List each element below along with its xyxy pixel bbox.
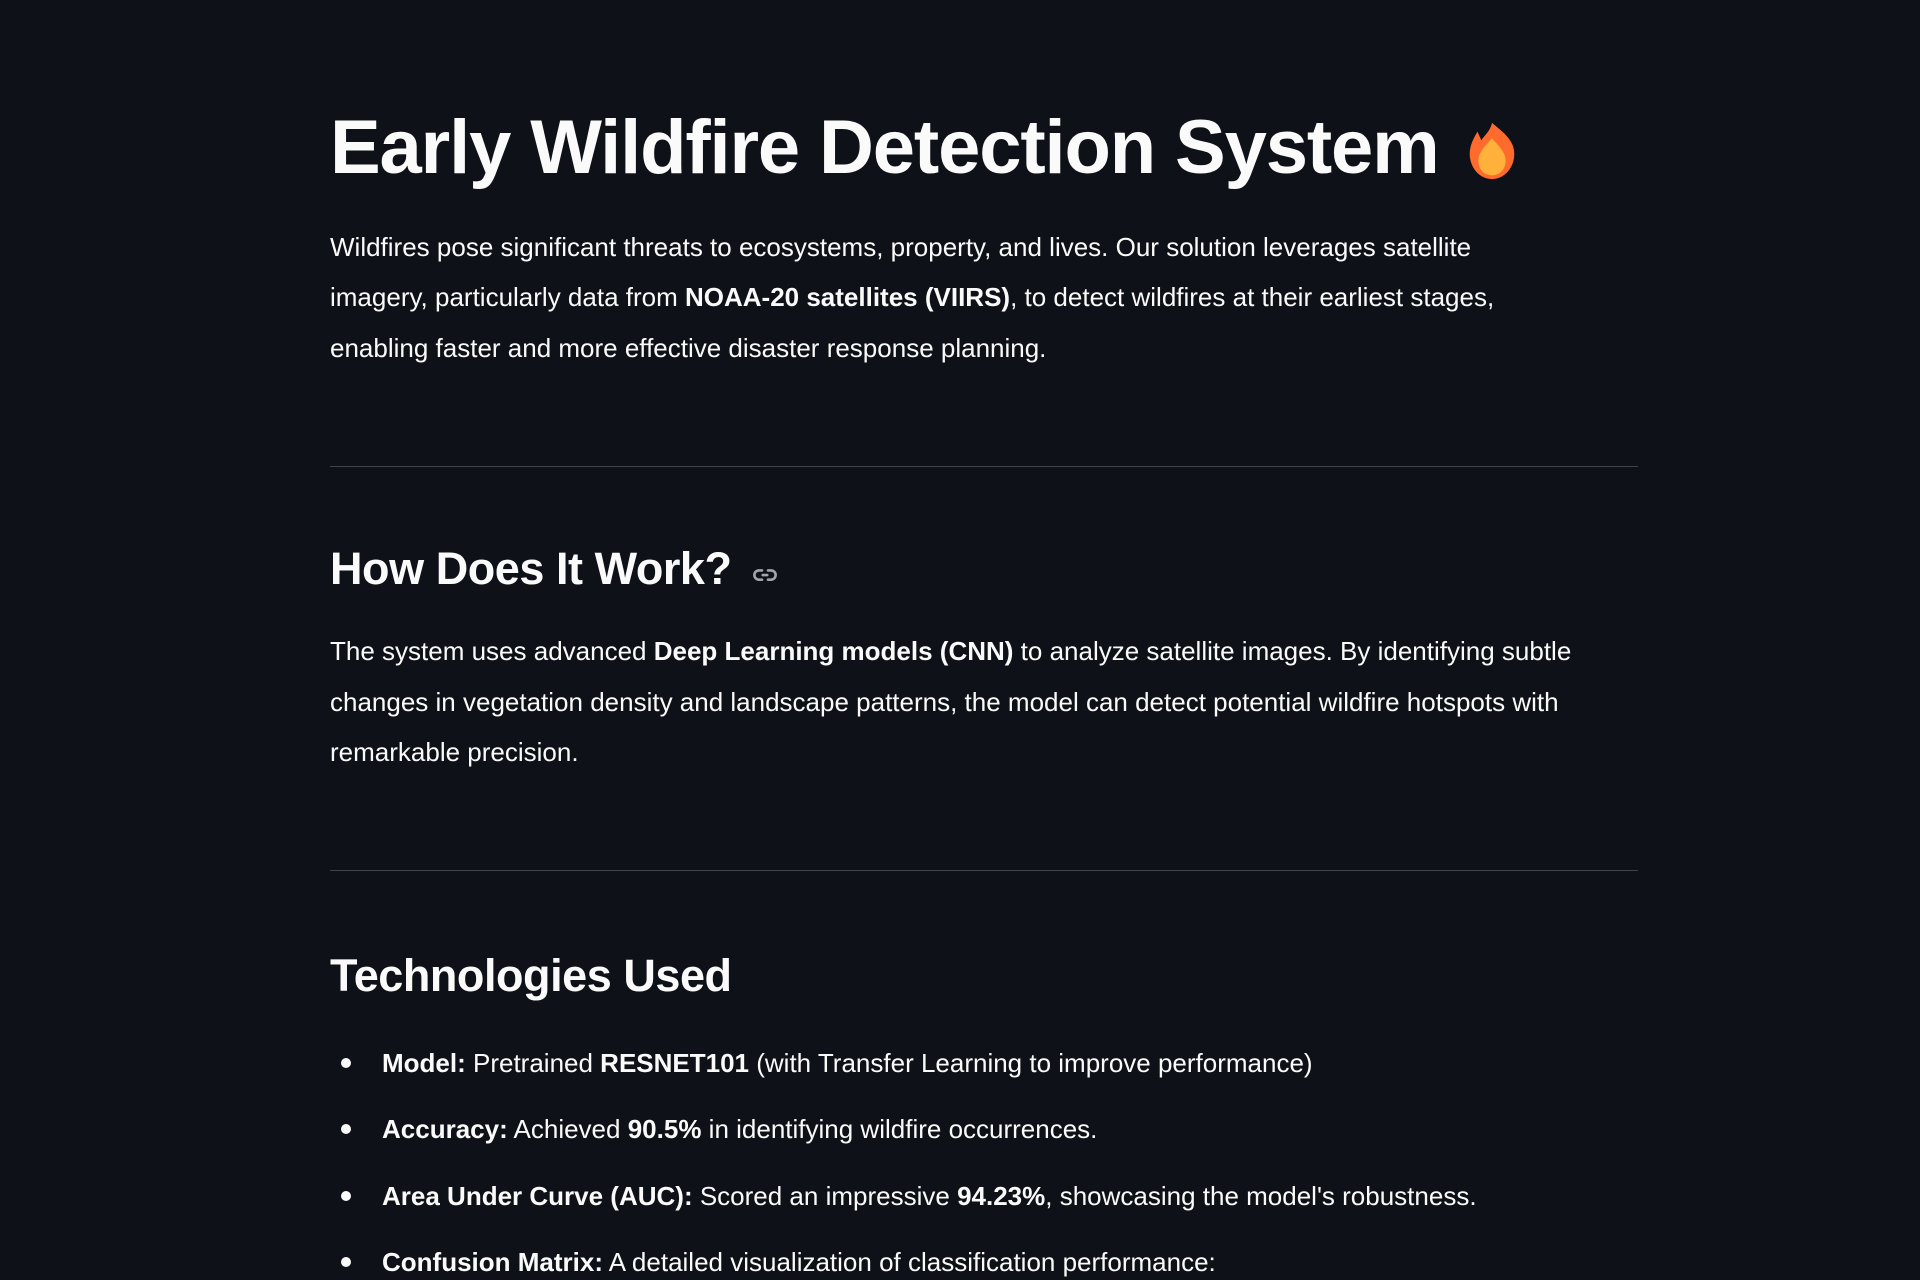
intro-bold-noaa: NOAA-20 satellites (VIIRS) xyxy=(685,282,1010,312)
page-title: Early Wildfire Detection System xyxy=(330,108,1439,188)
list-item-bold: RESNET101 xyxy=(600,1048,749,1078)
list-item: Model: Pretrained RESNET101 (with Transf… xyxy=(330,1045,1640,1081)
intro-paragraph: Wildfires pose significant threats to ec… xyxy=(330,222,1570,374)
how-does-it-work-heading: How Does It Work? xyxy=(330,542,732,596)
list-item-text-before: Scored an impressive xyxy=(693,1181,957,1211)
fire-emoji xyxy=(1461,118,1523,184)
list-item: Area Under Curve (AUC): Scored an impres… xyxy=(330,1178,1640,1214)
list-item-bold: 90.5% xyxy=(628,1114,702,1144)
list-item-text-before: Pretrained xyxy=(466,1048,600,1078)
list-item-text-before: Achieved xyxy=(508,1114,628,1144)
list-item-text-before: A detailed visualization of classificati… xyxy=(603,1247,1216,1277)
list-item-label: Area Under Curve (AUC): xyxy=(382,1181,693,1211)
technologies-list: Model: Pretrained RESNET101 (with Transf… xyxy=(330,1045,1640,1280)
section-divider xyxy=(330,466,1638,467)
list-item-label: Model: xyxy=(382,1048,466,1078)
how-bold-cnn: Deep Learning models (CNN) xyxy=(654,636,1014,666)
list-item-text-after: , showcasing the model's robustness. xyxy=(1045,1181,1476,1211)
list-item-text-after: (with Transfer Learning to improve perfo… xyxy=(749,1048,1313,1078)
technologies-used-heading: Technologies Used xyxy=(330,949,732,1003)
link-icon[interactable] xyxy=(750,560,780,590)
section-divider xyxy=(330,870,1638,871)
list-item-label: Confusion Matrix: xyxy=(382,1247,603,1277)
page-title-row: Early Wildfire Detection System xyxy=(330,108,1640,188)
app-page: Early Wildfire Detection System Wildfire… xyxy=(0,0,1920,1280)
list-item: Confusion Matrix: A detailed visualizati… xyxy=(330,1244,1640,1280)
list-item-text-after: in identifying wildfire occurrences. xyxy=(701,1114,1097,1144)
how-text-1: The system uses advanced xyxy=(330,636,654,666)
list-item: Accuracy: Achieved 90.5% in identifying … xyxy=(330,1111,1640,1147)
how-heading-row: How Does It Work? xyxy=(330,542,1640,596)
list-item-bold: 94.23% xyxy=(957,1181,1045,1211)
list-item-label: Accuracy: xyxy=(382,1114,508,1144)
how-does-it-work-paragraph: The system uses advanced Deep Learning m… xyxy=(330,626,1630,778)
content-column: Early Wildfire Detection System Wildfire… xyxy=(330,0,1640,1280)
technologies-heading-row: Technologies Used xyxy=(330,949,1640,1003)
